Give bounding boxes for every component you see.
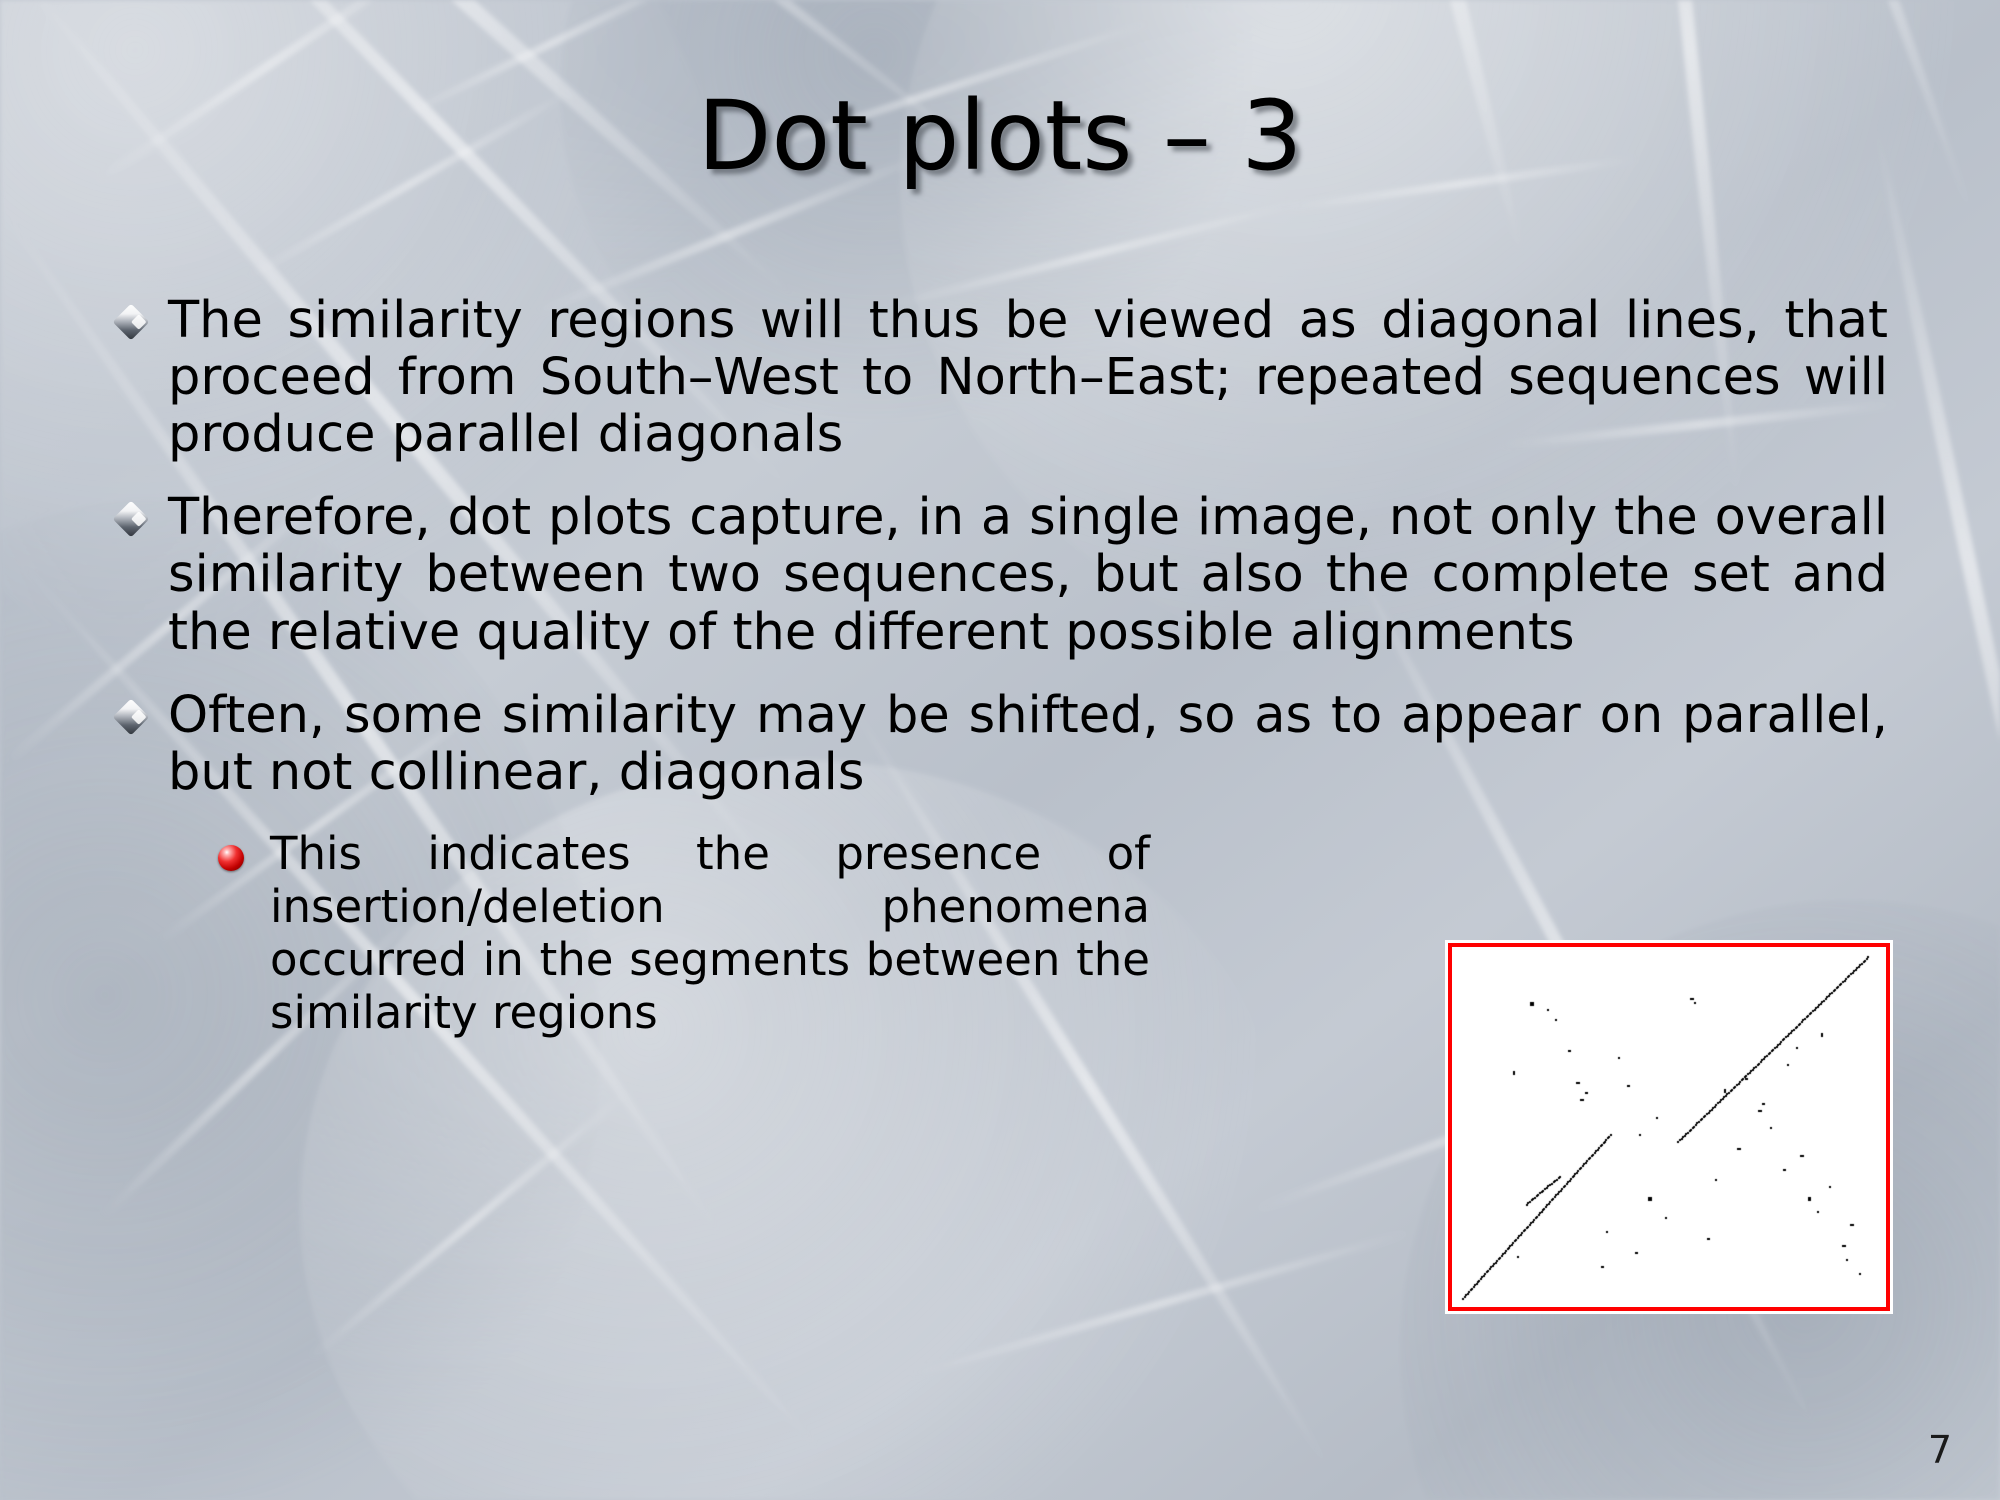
slide-title: Dot plots – 3 (0, 88, 2000, 184)
bullet-text-3: Often, some similarity may be shifted, s… (168, 687, 1888, 801)
bullet-text-1: The similarity regions will thus be view… (168, 292, 1888, 463)
diamond-arrow-icon (113, 501, 150, 538)
presentation-slide: Dot plots – 3 The similarity regions wil… (0, 0, 2000, 1500)
dot-plot-canvas (1452, 947, 1886, 1307)
page-number: 7 (1928, 1428, 1952, 1472)
bullet-text-4: This indicates the presence of insertion… (270, 827, 1150, 1039)
bullet-item-2: Therefore, dot plots capture, in a singl… (118, 489, 1888, 660)
dot-plot-figure (1448, 943, 1890, 1311)
red-sphere-icon (218, 845, 244, 871)
diamond-arrow-icon (113, 698, 150, 735)
bullet-item-3: Often, some similarity may be shifted, s… (118, 687, 1888, 801)
bullet-item-1: The similarity regions will thus be view… (118, 292, 1888, 463)
diamond-arrow-icon (113, 304, 150, 341)
bullet-text-2: Therefore, dot plots capture, in a singl… (168, 489, 1888, 660)
